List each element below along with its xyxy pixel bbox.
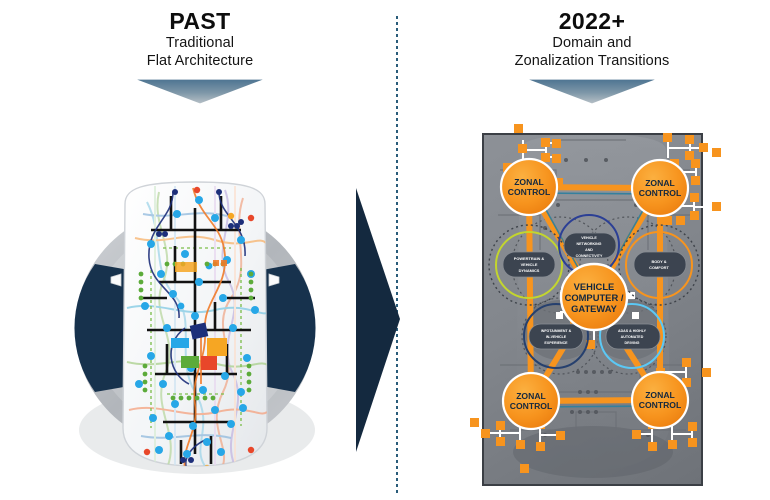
zonal-control-node-bottom-right [632,372,688,428]
zonal-control-node-bottom-left [503,373,559,429]
vehicle-computer-gateway-node [561,264,627,330]
page-title-past: PAST [60,8,340,34]
zonal-control-node-top-left [501,159,557,215]
chevron-down-arrow-icon [526,77,658,105]
flat-architecture-diagram [55,178,335,478]
chevron-down-arrow-icon [134,77,266,105]
left-subtitle-line1: Traditional [60,34,340,52]
zonal-control-node-top-right [632,160,688,216]
right-subtitle-line1: Domain and [452,34,732,52]
infographic-root: PAST Traditional Flat Architecture 2022+… [0,0,770,500]
left-column-header: PAST Traditional Flat Architecture [60,8,340,105]
right-subtitle-line2: Zonalization Transitions [452,52,732,70]
page-title-2022: 2022+ [452,8,732,34]
transition-arrow-icon [352,186,404,454]
right-column-header: 2022+ Domain and Zonalization Transition… [452,8,732,105]
left-subtitle-line2: Flat Architecture [60,52,340,70]
zonal-architecture-diagram: ZONAL CONTROL ZONAL CONTROL ZONAL CONTRO… [462,118,762,500]
